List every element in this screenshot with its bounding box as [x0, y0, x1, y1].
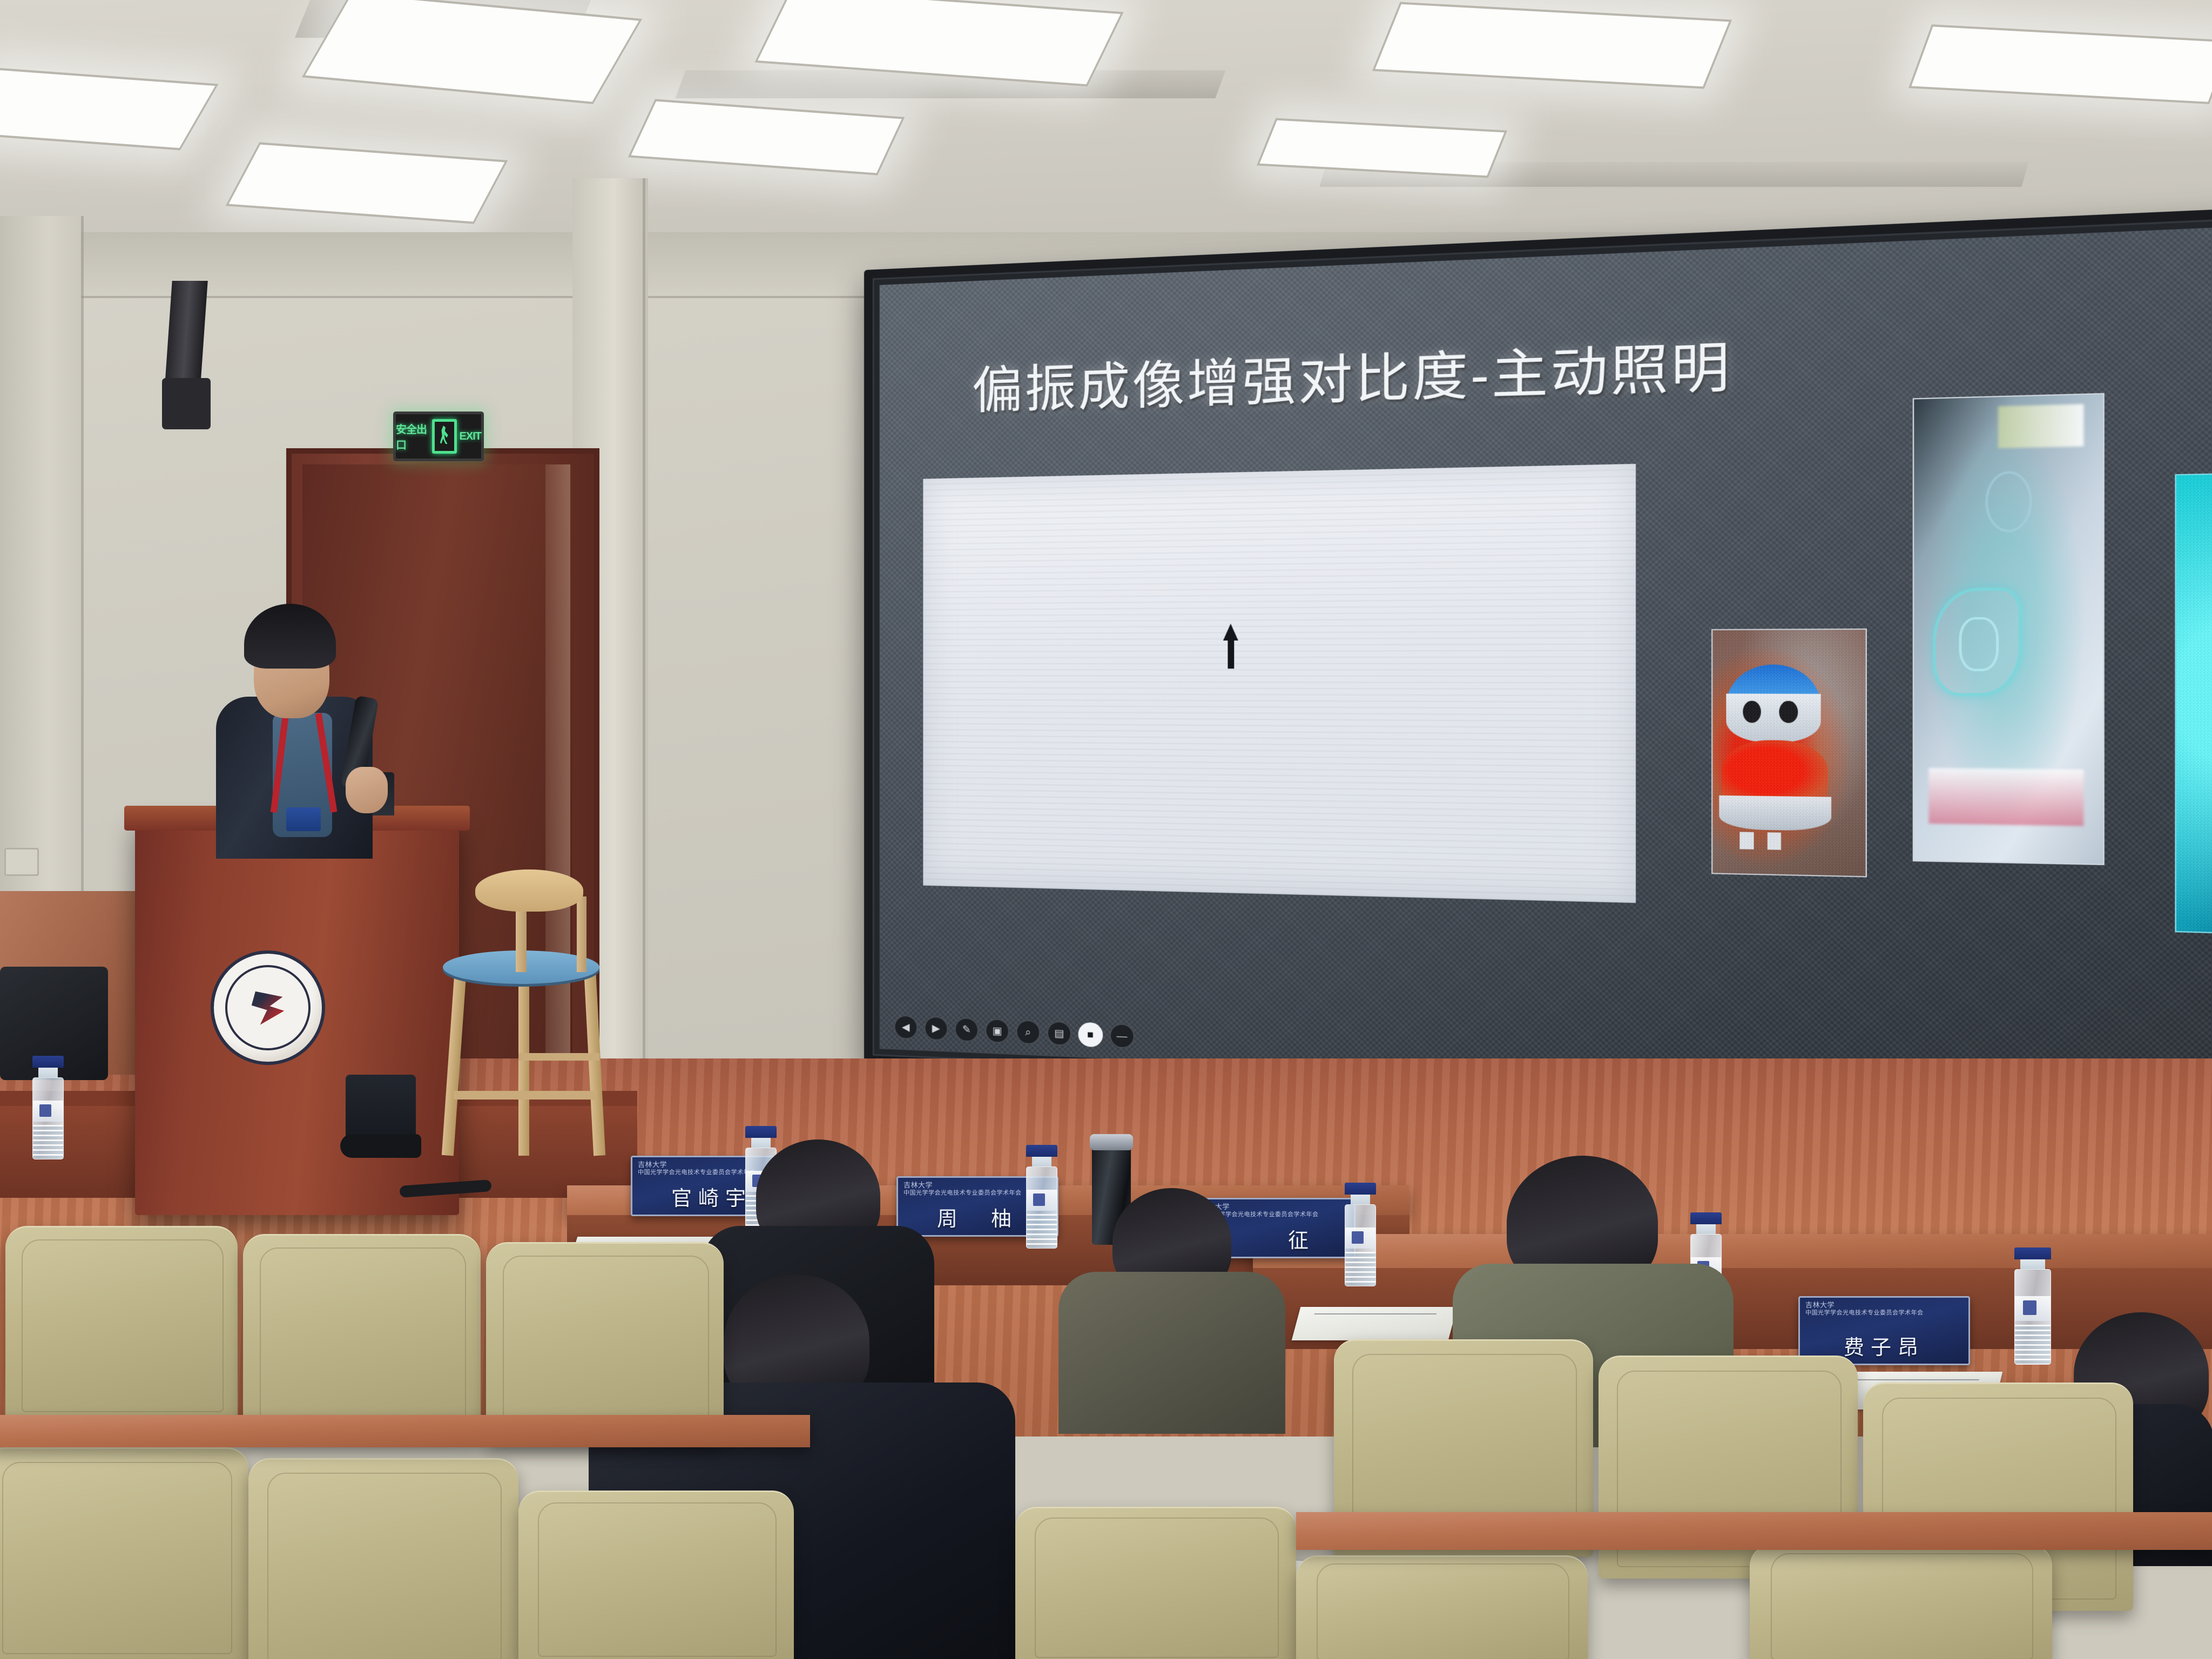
- led-wall-bezel: 偏振成像增强对比度-主动照明: [873, 211, 2212, 1124]
- water-bottle: [2014, 1247, 2051, 1365]
- wall-outlet: [4, 848, 39, 876]
- conference-desk: [1253, 1234, 2212, 1270]
- slides-icon[interactable]: ▤: [1047, 1021, 1071, 1046]
- door-edge-highlight: [545, 464, 570, 1102]
- slide-image-vase: [1913, 393, 2105, 865]
- auditorium-seat[interactable]: [1296, 1555, 1588, 1659]
- ceiling-camera: [162, 378, 211, 429]
- stool-rail: [518, 1053, 599, 1061]
- audience-shoulders: [1058, 1272, 1285, 1434]
- water-bottle: [1026, 1145, 1057, 1249]
- auditorium-seat[interactable]: [243, 1234, 481, 1435]
- stool-rail: [454, 1091, 597, 1100]
- nameplate: 吉林大学 中国光学学会光电技术专业委员会学术年会 费子昂: [1798, 1296, 1970, 1365]
- water-bottle: [1345, 1183, 1376, 1286]
- conference-room-scene: 安全出口 EXIT 偏振成像增强对比度-主动照明: [0, 0, 2212, 1659]
- document-paper: [1292, 1307, 1458, 1340]
- up-arrow-icon: [1223, 624, 1238, 669]
- exit-sign: 安全出口 EXIT: [393, 412, 484, 461]
- slide-image-robot: [1711, 629, 1866, 877]
- podium-emblem: [211, 950, 325, 1065]
- slide-title: 偏振成像增强对比度-主动照明: [972, 323, 1732, 423]
- running-man-icon: [432, 419, 457, 454]
- auditorium-seat[interactable]: [248, 1458, 518, 1659]
- prev-slide-icon[interactable]: ◀: [894, 1015, 918, 1040]
- presentation-toolbar[interactable]: ◀ ▶ ✎ ▣ ⌕ ▤ ■ —: [894, 1015, 1134, 1049]
- auditorium-seat[interactable]: [1750, 1545, 2052, 1659]
- nameplate-org-line2: 中国光学学会光电技术专业委员会学术年会: [1805, 1310, 1963, 1317]
- exit-sign-chinese-label: 安全出口: [396, 421, 429, 452]
- water-bottle: [32, 1056, 64, 1159]
- stool-leg: [518, 972, 529, 1156]
- nameplate-org-line1: 吉林大学: [1201, 1203, 1348, 1211]
- scanline-panel: [923, 464, 1636, 903]
- speaker-hand: [346, 767, 388, 813]
- wall-seam: [643, 178, 645, 1107]
- stool-backrest: [475, 869, 583, 912]
- led-video-wall[interactable]: 偏振成像增强对比度-主动照明: [864, 200, 2212, 1134]
- conference-desk: [1296, 1512, 2212, 1550]
- stool-backpost: [577, 896, 586, 972]
- thermos-cap: [1090, 1134, 1133, 1150]
- screenshot-icon[interactable]: ▣: [985, 1019, 1009, 1043]
- speaker-shoe: [340, 1134, 421, 1158]
- exit-sign-english-label: EXIT: [460, 430, 481, 443]
- slide-image-chief: CHIEF 单兵 主动照明: [2175, 470, 2212, 938]
- next-slide-icon[interactable]: ▶: [924, 1016, 948, 1041]
- nameplate-org-line1: 吉林大学: [1805, 1301, 1963, 1310]
- minimize-icon[interactable]: —: [1110, 1023, 1135, 1049]
- conference-desk: [0, 1415, 810, 1447]
- auditorium-seat[interactable]: [0, 1447, 248, 1659]
- auditorium-seat[interactable]: [1015, 1507, 1296, 1659]
- stool-backpost: [516, 902, 527, 972]
- pen-icon[interactable]: ✎: [954, 1017, 978, 1042]
- record-icon[interactable]: ■: [1078, 1022, 1103, 1048]
- auditorium-seat[interactable]: [5, 1226, 238, 1422]
- presentation-screen[interactable]: 偏振成像增强对比度-主动照明: [880, 219, 2212, 1115]
- speaker-badge: [286, 807, 321, 831]
- magnify-icon[interactable]: ⌕: [1016, 1020, 1040, 1045]
- auditorium-seat[interactable]: [486, 1242, 724, 1444]
- auditorium-seat[interactable]: [518, 1491, 794, 1659]
